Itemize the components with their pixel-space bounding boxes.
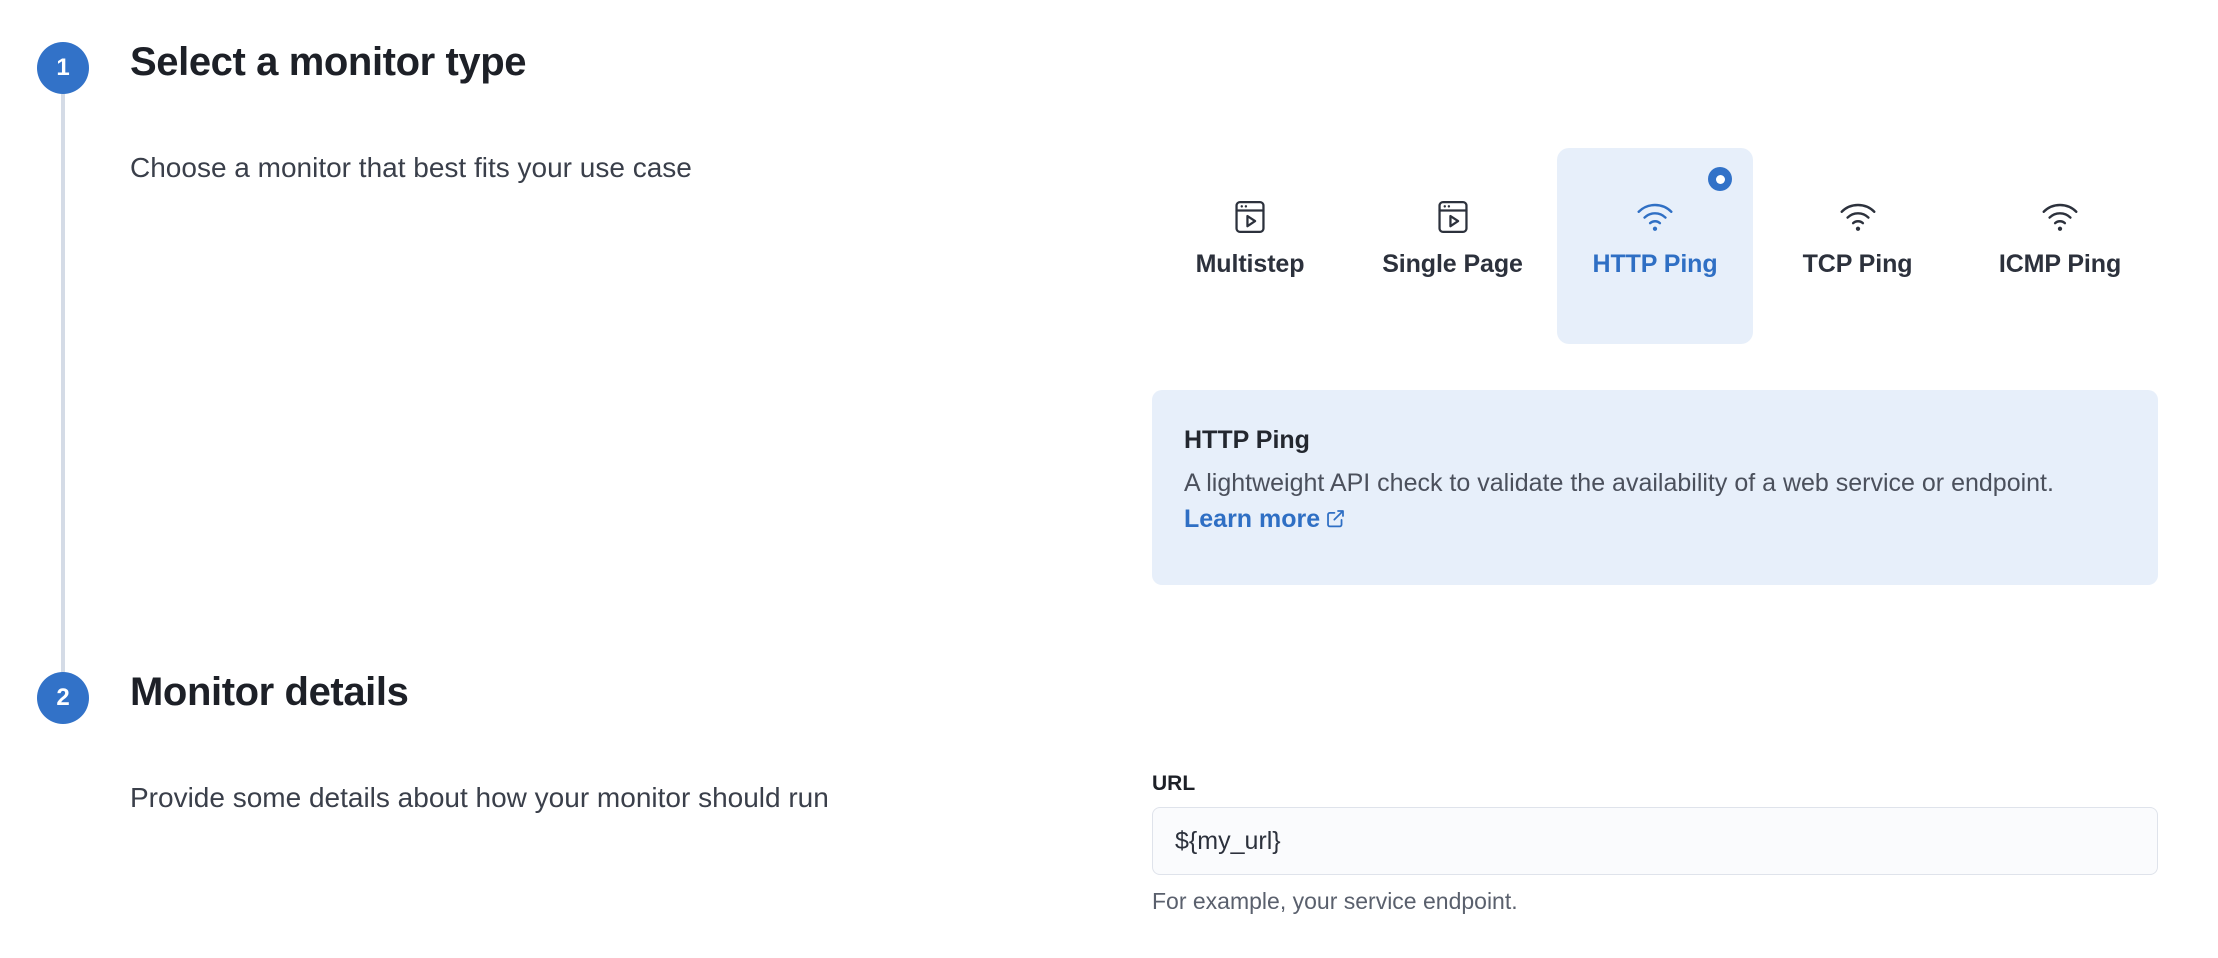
step-1-subtitle: Choose a monitor that best fits your use… [130,152,692,184]
external-link-icon [1325,503,1346,539]
monitor-type-option-tcp-ping[interactable]: TCP Ping [1760,148,1956,344]
url-field-group: URL For example, your service endpoint. [1152,772,2158,915]
info-panel-title: HTTP Ping [1184,426,2126,455]
monitor-type-label: HTTP Ping [1592,250,1717,279]
step-badge-1: 1 [37,42,89,94]
monitor-type-option-icmp-ping[interactable]: ICMP Ping [1962,148,2158,344]
monitor-type-info-panel: HTTP Ping A lightweight API check to val… [1152,390,2158,585]
url-input[interactable] [1152,807,2158,875]
stepper-connector-line [61,68,65,700]
wifi-icon [1838,196,1878,238]
monitor-type-option-single-page[interactable]: Single Page [1355,148,1551,344]
monitor-type-selector: Multistep Single Page [1152,148,2158,344]
monitor-type-label: Single Page [1382,250,1523,279]
monitor-type-option-http-ping[interactable]: HTTP Ping [1557,148,1753,344]
radio-selected-icon[interactable] [1708,167,1732,191]
wifi-icon [2040,196,2080,238]
step-badge-2: 2 [37,672,89,724]
page-title-step-1: Select a monitor type [130,40,526,85]
monitor-type-label: ICMP Ping [1999,250,2121,279]
url-field-help-text: For example, your service endpoint. [1152,888,2158,915]
wifi-icon [1635,196,1675,238]
learn-more-link[interactable]: Learn more [1184,505,1346,533]
step-2-subtitle: Provide some details about how your moni… [130,782,829,814]
info-panel-body: A lightweight API check to validate the … [1184,465,2126,540]
browser-play-icon [1436,196,1470,238]
browser-play-icon [1233,196,1267,238]
monitor-type-option-multistep[interactable]: Multistep [1152,148,1348,344]
info-panel-description: A lightweight API check to validate the … [1184,469,2054,497]
monitor-type-label: Multistep [1196,250,1305,279]
url-field-label: URL [1152,772,2158,796]
monitor-setup-wizard: 1 Select a monitor type Choose a monitor… [0,0,2218,958]
monitor-type-label: TCP Ping [1803,250,1913,279]
page-title-step-2: Monitor details [130,670,408,715]
learn-more-label: Learn more [1184,505,1320,533]
